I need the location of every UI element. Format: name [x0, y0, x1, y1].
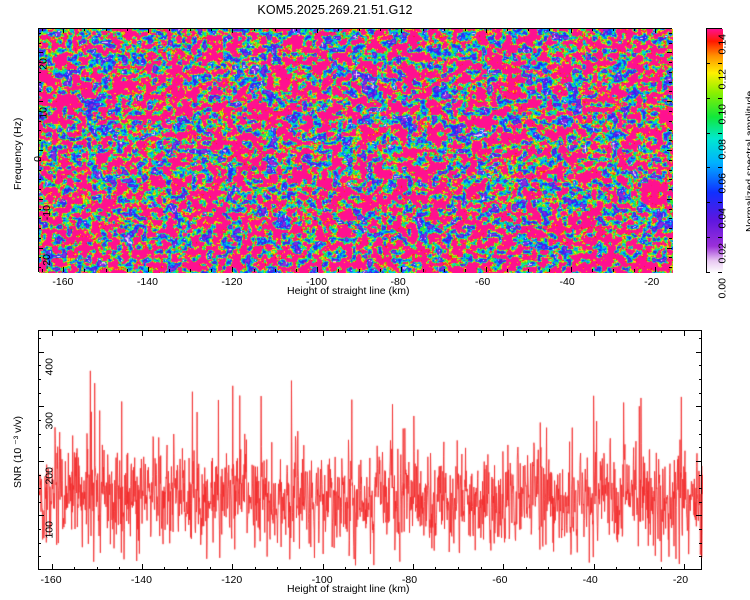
axis-tick: [718, 98, 722, 99]
axis-tick: [74, 330, 75, 333]
axis-tick: [38, 130, 41, 131]
axis-tick: [706, 272, 710, 273]
axis-tick: [254, 269, 255, 272]
axis-tick: [232, 564, 233, 570]
axis-tick: [106, 269, 107, 272]
axis-tick: [52, 564, 53, 570]
axis-tick: [669, 130, 672, 131]
axis-tick: [667, 52, 672, 53]
axis-tick: [706, 133, 710, 134]
axis-tick: [38, 379, 41, 380]
axis-tick: [699, 379, 702, 380]
axis-tick: [444, 269, 445, 272]
axis-tick: [667, 101, 672, 102]
axis-tick: [571, 567, 572, 570]
colorbar-tick-label: 0.00: [716, 278, 728, 298]
axis-tick: [718, 63, 722, 64]
axis-tick: [669, 160, 672, 161]
axis-tick: [699, 543, 702, 544]
axis-tick: [423, 28, 424, 31]
axis-tick: [338, 269, 339, 272]
axis-tick: [669, 140, 672, 141]
snr-x-tick-label: -120: [221, 574, 242, 586]
axis-tick: [528, 28, 529, 31]
axis-tick: [38, 365, 41, 366]
axis-tick: [38, 228, 41, 229]
axis-tick: [571, 330, 572, 333]
axis-tick: [42, 269, 43, 272]
axis-tick: [458, 330, 459, 333]
colorbar-tick-label: 0.02: [716, 243, 728, 263]
axis-tick: [669, 267, 672, 268]
axis-tick: [38, 406, 44, 407]
axis-tick: [38, 150, 43, 151]
axis-tick: [634, 269, 635, 272]
axis-tick: [359, 28, 360, 31]
axis-tick: [503, 564, 504, 570]
axis-tick: [655, 28, 656, 33]
axis-tick: [706, 63, 710, 64]
axis-tick: [187, 567, 188, 570]
axis-tick: [669, 43, 672, 44]
axis-tick: [317, 28, 318, 33]
axis-tick: [38, 72, 41, 73]
axis-tick: [706, 202, 710, 203]
axis-tick: [667, 150, 672, 151]
axis-tick: [486, 28, 487, 33]
snr-x-tick-label: -20: [673, 574, 688, 586]
snr-y-tick-label: 200: [44, 467, 56, 485]
axis-tick: [38, 338, 41, 339]
colorbar-tick-label: 0.06: [716, 173, 728, 193]
axis-tick: [528, 269, 529, 272]
axis-tick: [481, 567, 482, 570]
axis-tick: [119, 330, 120, 333]
axis-tick: [549, 28, 550, 31]
axis-tick: [148, 267, 149, 272]
axis-tick: [594, 564, 595, 570]
axis-tick: [38, 111, 41, 112]
spectrogram-x-tick-label: -160: [52, 276, 73, 288]
axis-tick: [669, 170, 672, 171]
axis-tick: [507, 28, 508, 31]
axis-tick: [38, 434, 41, 435]
axis-tick: [699, 393, 702, 394]
axis-tick: [669, 72, 672, 73]
axis-tick: [669, 209, 672, 210]
axis-tick: [444, 28, 445, 31]
axis-tick: [38, 420, 41, 421]
axis-tick: [38, 543, 41, 544]
axis-tick: [669, 33, 672, 34]
axis-tick: [435, 330, 436, 333]
axis-tick: [345, 567, 346, 570]
axis-tick: [401, 267, 402, 272]
axis-tick: [38, 170, 41, 171]
axis-tick: [38, 238, 41, 239]
axis-tick: [699, 365, 702, 366]
axis-tick: [190, 269, 191, 272]
axis-tick: [119, 567, 120, 570]
page-title: KOM5.2025.269.21.51.G12: [0, 3, 670, 17]
axis-tick: [669, 179, 672, 180]
axis-tick: [706, 237, 710, 238]
spectrogram-x-tick-label: -20: [644, 276, 659, 288]
axis-tick: [97, 567, 98, 570]
axis-tick: [38, 82, 41, 83]
axis-tick: [699, 475, 702, 476]
snr-trace: [39, 331, 703, 571]
axis-tick: [592, 28, 593, 31]
spectrogram-y-tick-label: 10: [38, 107, 50, 119]
colorbar-label: Normalized spectral amplitude: [744, 91, 750, 232]
axis-tick: [142, 330, 143, 336]
axis-tick: [368, 330, 369, 333]
axis-tick: [38, 62, 41, 63]
axis-tick: [296, 28, 297, 31]
axis-tick: [255, 567, 256, 570]
axis-tick: [526, 567, 527, 570]
axis-tick: [481, 330, 482, 333]
axis-tick: [211, 269, 212, 272]
snr-x-axis-label: Height of straight line (km): [287, 583, 410, 595]
axis-tick: [323, 564, 324, 570]
axis-tick: [696, 461, 702, 462]
axis-tick: [127, 28, 128, 31]
axis-tick: [699, 488, 702, 489]
axis-tick: [232, 267, 233, 272]
axis-tick: [254, 28, 255, 31]
spectrogram-y-tick-label: 20: [38, 58, 50, 70]
axis-tick: [38, 502, 41, 503]
axis-tick: [667, 248, 672, 249]
axis-tick: [639, 330, 640, 333]
spectrogram-panel: [38, 28, 672, 272]
axis-tick: [661, 330, 662, 333]
colorbar-tick-label: 0.10: [716, 104, 728, 124]
axis-tick: [616, 567, 617, 570]
axis-tick: [38, 199, 43, 200]
axis-tick: [164, 567, 165, 570]
axis-tick: [38, 33, 41, 34]
axis-tick: [106, 28, 107, 31]
axis-tick: [38, 218, 41, 219]
axis-tick: [413, 564, 414, 570]
axis-tick: [164, 330, 165, 333]
spectrogram-y-axis-label: Frequency (Hz): [12, 118, 24, 190]
spectrogram-x-tick-label: -40: [560, 276, 575, 288]
spectrogram-y-tick-label: -20: [41, 254, 53, 269]
axis-tick: [323, 330, 324, 336]
axis-tick: [210, 330, 211, 333]
axis-tick: [423, 269, 424, 272]
axis-tick: [669, 218, 672, 219]
axis-tick: [592, 269, 593, 272]
axis-tick: [486, 267, 487, 272]
axis-tick: [571, 267, 572, 272]
axis-tick: [669, 121, 672, 122]
snr-y-tick-label: 400: [44, 358, 56, 376]
axis-tick: [38, 556, 41, 557]
snr-panel: [38, 330, 702, 570]
axis-tick: [38, 515, 44, 516]
snr-x-tick-label: -140: [131, 574, 152, 586]
axis-tick: [148, 28, 149, 33]
spectrogram-x-tick-label: -140: [137, 276, 158, 288]
axis-tick: [169, 269, 170, 272]
axis-tick: [669, 62, 672, 63]
axis-tick: [38, 488, 41, 489]
axis-tick: [38, 267, 41, 268]
axis-tick: [699, 529, 702, 530]
axis-tick: [210, 567, 211, 570]
axis-tick: [613, 269, 614, 272]
axis-tick: [718, 167, 722, 168]
axis-tick: [696, 406, 702, 407]
axis-tick: [38, 257, 41, 258]
spectrogram-image: [39, 29, 673, 273]
axis-tick: [74, 567, 75, 570]
axis-tick: [38, 43, 41, 44]
axis-tick: [684, 330, 685, 336]
axis-tick: [84, 28, 85, 31]
colorbar-tick-label: 0.04: [716, 208, 728, 228]
axis-tick: [669, 257, 672, 258]
axis-tick: [655, 267, 656, 272]
axis-tick: [169, 28, 170, 31]
axis-tick: [526, 330, 527, 333]
axis-tick: [699, 434, 702, 435]
axis-tick: [548, 567, 549, 570]
axis-tick: [684, 564, 685, 570]
axis-tick: [38, 179, 41, 180]
axis-tick: [142, 564, 143, 570]
axis-tick: [661, 567, 662, 570]
axis-tick: [255, 330, 256, 333]
axis-tick: [669, 91, 672, 92]
axis-tick: [359, 269, 360, 272]
colorbar-tick-label: 0.12: [716, 69, 728, 89]
axis-tick: [699, 502, 702, 503]
axis-tick: [277, 567, 278, 570]
axis-tick: [465, 28, 466, 31]
axis-tick: [669, 82, 672, 83]
spectrogram-x-tick-label: -60: [475, 276, 490, 288]
axis-tick: [669, 189, 672, 190]
figure-canvas: KOM5.2025.269.21.51.G12 -160-140-120-100…: [0, 0, 750, 600]
axis-tick: [634, 28, 635, 31]
axis-tick: [458, 567, 459, 570]
axis-tick: [413, 330, 414, 336]
axis-tick: [380, 28, 381, 31]
axis-tick: [706, 28, 710, 29]
snr-x-tick-label: -160: [41, 574, 62, 586]
spectrogram-x-axis-label: Height of straight line (km): [287, 285, 410, 297]
axis-tick: [52, 330, 53, 336]
axis-tick: [669, 238, 672, 239]
axis-tick: [503, 330, 504, 336]
axis-tick: [699, 338, 702, 339]
axis-tick: [465, 269, 466, 272]
axis-tick: [38, 209, 41, 210]
axis-tick: [639, 567, 640, 570]
axis-tick: [296, 269, 297, 272]
axis-tick: [38, 160, 41, 161]
axis-tick: [84, 269, 85, 272]
axis-tick: [338, 28, 339, 31]
spectrogram-y-tick-label: -10: [41, 205, 53, 220]
axis-tick: [669, 111, 672, 112]
axis-tick: [38, 352, 44, 353]
axis-tick: [232, 28, 233, 33]
axis-tick: [38, 475, 41, 476]
axis-tick: [38, 447, 41, 448]
axis-tick: [300, 567, 301, 570]
axis-tick: [275, 28, 276, 31]
snr-x-tick-label: -40: [583, 574, 598, 586]
axis-tick: [706, 167, 710, 168]
snr-y-tick-label: 300: [44, 412, 56, 430]
axis-tick: [718, 202, 722, 203]
axis-tick: [38, 248, 43, 249]
axis-tick: [38, 461, 44, 462]
axis-tick: [368, 567, 369, 570]
axis-tick: [190, 28, 191, 31]
axis-tick: [594, 330, 595, 336]
axis-tick: [38, 91, 41, 92]
axis-tick: [38, 393, 41, 394]
axis-tick: [42, 28, 43, 31]
axis-tick: [97, 330, 98, 333]
axis-tick: [613, 28, 614, 31]
axis-tick: [38, 189, 41, 190]
axis-tick: [718, 237, 722, 238]
axis-tick: [38, 121, 41, 122]
axis-tick: [38, 52, 43, 53]
axis-tick: [63, 267, 64, 272]
axis-tick: [699, 447, 702, 448]
colorbar-tick-label: 0.14: [716, 34, 728, 54]
axis-tick: [696, 515, 702, 516]
axis-tick: [63, 28, 64, 33]
axis-tick: [699, 556, 702, 557]
axis-tick: [38, 529, 41, 530]
axis-tick: [401, 28, 402, 33]
axis-tick: [718, 133, 722, 134]
axis-tick: [317, 267, 318, 272]
axis-tick: [549, 269, 550, 272]
axis-tick: [718, 272, 722, 273]
axis-tick: [718, 28, 722, 29]
axis-tick: [127, 269, 128, 272]
axis-tick: [571, 28, 572, 33]
axis-tick: [616, 330, 617, 333]
snr-y-axis-label: SNR (10 ⁻³ v/v): [12, 416, 24, 488]
colorbar-tick-label: 0.08: [716, 139, 728, 159]
axis-tick: [706, 98, 710, 99]
axis-tick: [277, 330, 278, 333]
axis-tick: [699, 420, 702, 421]
spectrogram-x-tick-label: -120: [221, 276, 242, 288]
axis-tick: [390, 567, 391, 570]
axis-tick: [211, 28, 212, 31]
axis-tick: [435, 567, 436, 570]
axis-tick: [300, 330, 301, 333]
axis-tick: [696, 352, 702, 353]
axis-tick: [275, 269, 276, 272]
axis-tick: [667, 199, 672, 200]
axis-tick: [507, 269, 508, 272]
axis-tick: [548, 330, 549, 333]
axis-tick: [232, 330, 233, 336]
axis-tick: [669, 228, 672, 229]
axis-tick: [187, 330, 188, 333]
snr-y-tick-label: 100: [44, 521, 56, 539]
snr-x-tick-label: -60: [492, 574, 507, 586]
axis-tick: [390, 330, 391, 333]
axis-tick: [38, 101, 43, 102]
axis-tick: [38, 140, 41, 141]
axis-tick: [380, 269, 381, 272]
axis-tick: [345, 330, 346, 333]
